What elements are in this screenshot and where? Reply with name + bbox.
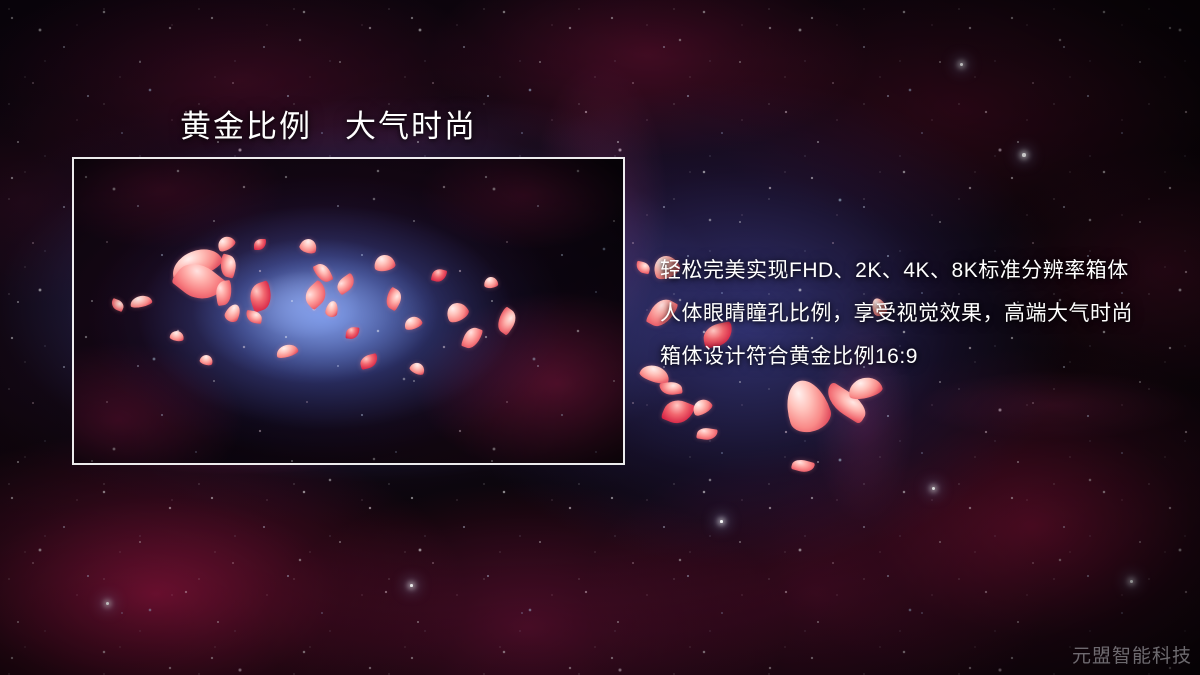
- description-line-1: 轻松完美实现FHD、2K、4K、8K标准分辨率箱体: [660, 256, 1133, 299]
- description-line-3: 箱体设计符合黄金比例16:9: [660, 342, 1133, 385]
- slide-title: 黄金比例 大气时尚: [180, 101, 477, 146]
- panel-vignette: [74, 159, 623, 463]
- company-watermark: 元盟智能科技: [1072, 641, 1192, 668]
- description-line-2: 人体眼睛瞳孔比例，享受视觉效果，高端大气时尚: [660, 299, 1133, 342]
- image-panel: [72, 157, 625, 465]
- feature-description: 轻松完美实现FHD、2K、4K、8K标准分辨率箱体 人体眼睛瞳孔比例，享受视觉效…: [660, 256, 1133, 385]
- presentation-slide: 黄金比例 大气时尚 轻松完美实现FHD、2K、4K、8K标准分辨率箱体 人体眼睛…: [0, 0, 1200, 675]
